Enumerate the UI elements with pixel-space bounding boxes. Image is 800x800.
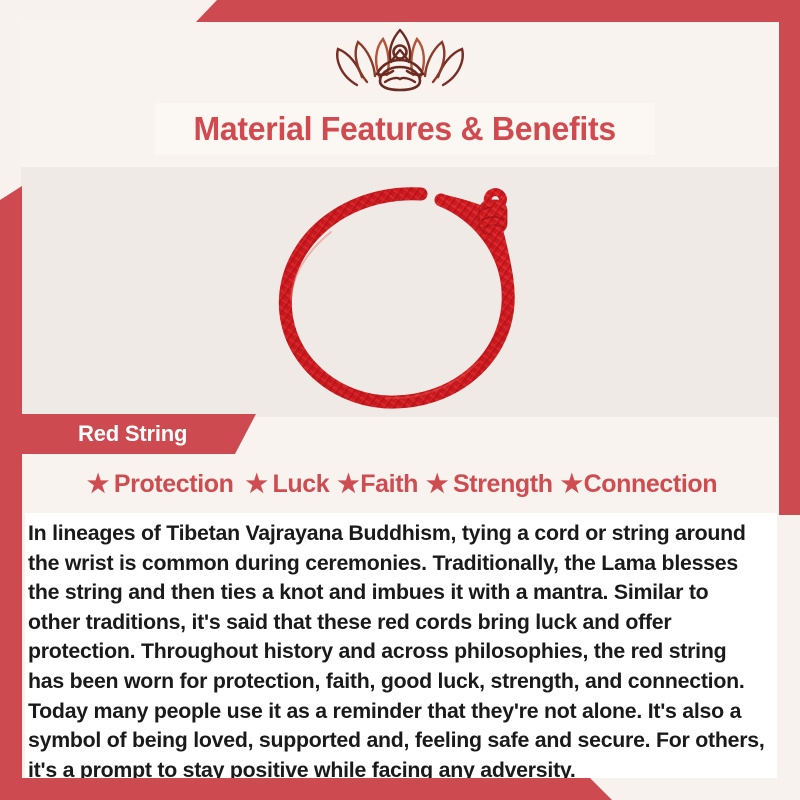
title-banner: Material Features & Benefits (155, 103, 655, 155)
bracelet-icon (236, 172, 566, 417)
lotus-meditation-icon (0, 22, 800, 99)
decorative-right-bar (779, 0, 800, 515)
benefits-list: ★ Protection ★ Luck ★ Faith ★ Strength ★… (21, 463, 779, 505)
decorative-left-bar (0, 186, 22, 800)
star-icon: ★ (246, 472, 268, 497)
benefit-item-connection: ★ Connection (559, 470, 720, 499)
decorative-top-bar (0, 0, 800, 22)
infographic-page: BUDDHA STONES Material Features & Benefi… (0, 0, 800, 800)
benefit-item-luck: ★ Luck (240, 470, 336, 499)
page-title: Material Features & Benefits (194, 110, 616, 148)
benefit-item-faith: ★ Faith (335, 470, 420, 499)
benefit-label: Protection (114, 470, 234, 499)
description-text: In lineages of Tibetan Vajrayana Buddhis… (28, 519, 766, 785)
star-icon: ★ (426, 472, 448, 497)
hero-image (21, 167, 779, 417)
star-icon: ★ (337, 472, 359, 497)
star-icon: ★ (87, 472, 109, 497)
benefit-label: Connection (584, 470, 718, 499)
benefit-label: Faith (360, 470, 418, 499)
benefit-label: Strength (453, 470, 553, 499)
red-string-ribbon: Red String (21, 414, 256, 454)
ribbon-label: Red String (78, 421, 187, 447)
star-icon: ★ (561, 472, 583, 497)
benefit-label: Luck (273, 470, 330, 499)
description-block: In lineages of Tibetan Vajrayana Buddhis… (26, 513, 774, 775)
benefit-item-strength: ★ Strength (420, 470, 559, 499)
benefit-item-protection: ★ Protection (81, 470, 240, 499)
